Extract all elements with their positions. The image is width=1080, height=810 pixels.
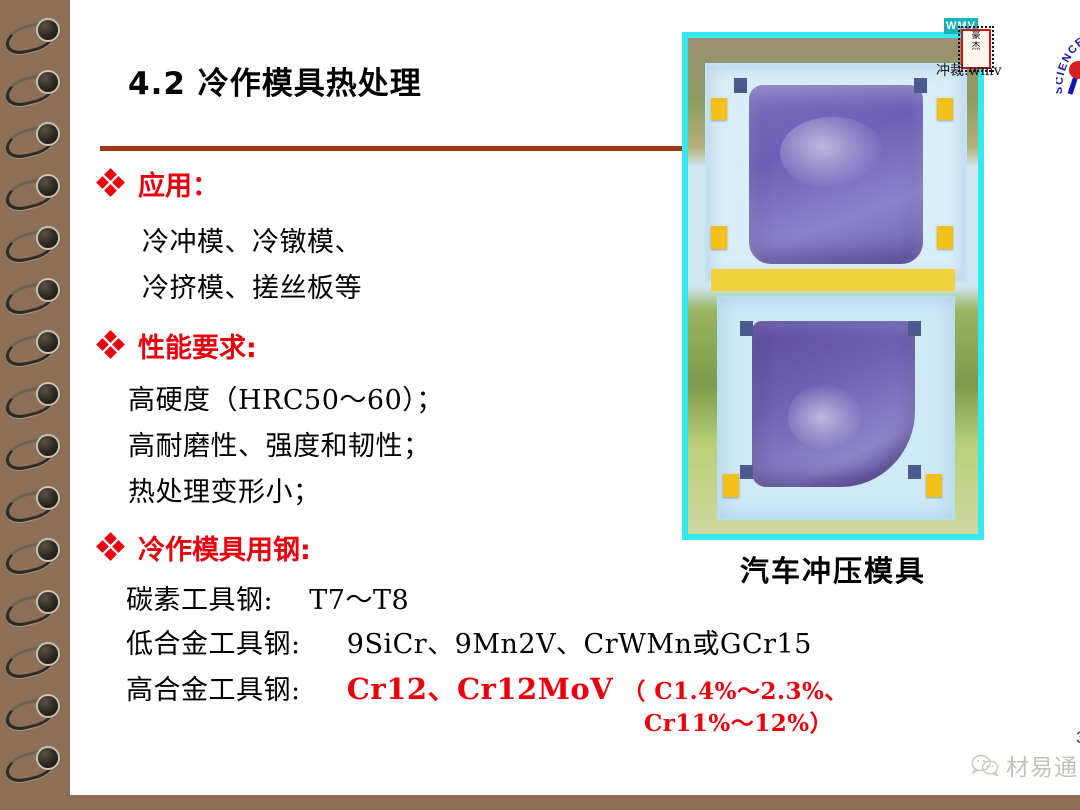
yellow-support-bar: [711, 269, 955, 291]
binding-ring: [4, 70, 60, 104]
video-file-label[interactable]: 冲裁.wmv: [936, 60, 1002, 80]
slide-canvas: 4.2 冷作模具热处理 应用： 冷冲模、冷镦模、 冷挤模、搓丝板等 性能要求: …: [0, 0, 1080, 810]
die-fixture-block: [908, 321, 921, 336]
die-clamp: [926, 474, 942, 496]
diamond-bullet-icon: [98, 534, 124, 560]
section-heading-steels: 冷作模具用钢:: [98, 528, 311, 567]
composition-note-second: Cr11%～12%）: [644, 704, 833, 738]
die-fixture-block: [734, 78, 747, 93]
binding-ring: [4, 590, 60, 624]
steel-label: 低合金工具钢:: [126, 629, 301, 660]
binding-ring: [4, 122, 60, 156]
section-heading-requirements: 性能要求:: [98, 326, 257, 365]
seal-char-bottom: 杰: [963, 42, 989, 53]
die-clamp: [723, 474, 739, 496]
die-clamp: [711, 98, 727, 120]
application-line-1: 冷冲模、冷镦模、: [142, 220, 362, 259]
section-label: 应用：: [138, 164, 219, 203]
section-label: 冷作模具用钢:: [138, 528, 311, 567]
die-fixture-block: [914, 78, 927, 93]
binding-ring: [4, 642, 60, 676]
die-fixture-block: [740, 465, 753, 480]
requirement-line-2: 高耐磨性、强度和韧性；: [128, 424, 431, 463]
photo-caption: 汽车冲压模具: [682, 548, 984, 590]
steel-row-carbon: 碳素工具钢: T7～T8: [126, 578, 409, 617]
binding-ring: [4, 18, 60, 52]
diamond-bullet-icon: [98, 170, 124, 196]
requirement-line-1: 高硬度（HRC50～60）；: [128, 378, 444, 417]
wechat-icon: [970, 754, 1000, 776]
page-number: 38: [1076, 728, 1080, 748]
binding-ring: [4, 330, 60, 364]
steel-label: 高合金工具钢:: [126, 675, 301, 706]
binding-ring: [4, 538, 60, 572]
die-cavity-upper: [749, 85, 923, 264]
steel-grades: T7～T8: [309, 585, 409, 616]
seal-char-top: 豪: [963, 31, 989, 42]
die-clamp: [937, 98, 953, 120]
die-fixture-block: [908, 465, 921, 480]
diamond-bullet-icon: [98, 332, 124, 358]
binding-ring: [4, 746, 60, 780]
steel-label: 碳素工具钢:: [126, 585, 273, 616]
slide-page: 4.2 冷作模具热处理 应用： 冷冲模、冷镦模、 冷挤模、搓丝板等 性能要求: …: [70, 0, 1080, 795]
steel-row-low-alloy: 低合金工具钢: 9SiCr、9Mn2V、CrWMn或GCr15: [126, 622, 812, 661]
spiral-binding: [0, 0, 70, 810]
watermark: 材易通: [970, 748, 1078, 782]
binding-ring: [4, 226, 60, 260]
steel-grades: Cr12、Cr12MoV: [347, 672, 613, 706]
die-clamp: [711, 226, 727, 248]
watermark-text: 材易通: [1006, 748, 1078, 782]
section-label: 性能要求:: [138, 326, 257, 365]
binding-ring: [4, 174, 60, 208]
photo-content: [688, 38, 978, 534]
science-engineering-logo: SCIENCE ENGINEERING &: [1056, 26, 1080, 146]
steel-row-high-alloy: 高合金工具钢: Cr12、Cr12MoV （ C1.4%～2.3%、: [126, 666, 848, 708]
stamping-die-photo: [682, 32, 984, 540]
binding-ring: [4, 434, 60, 468]
binding-ring: [4, 382, 60, 416]
die-clamp: [937, 226, 953, 248]
composition-note-first: （ C1.4%～2.3%、: [622, 678, 848, 705]
binding-ring: [4, 694, 60, 728]
upper-die-half: [705, 63, 966, 282]
title-divider: [100, 146, 682, 151]
binding-ring: [4, 278, 60, 312]
steel-grades: 9SiCr、9Mn2V、CrWMn或GCr15: [347, 629, 812, 660]
page-title: 4.2 冷作模具热处理: [128, 58, 422, 103]
requirement-line-3: 热处理变形小；: [128, 470, 321, 509]
section-heading-application: 应用：: [98, 164, 219, 203]
die-cavity-lower: [752, 321, 914, 487]
application-line-2: 冷挤模、搓丝板等: [142, 266, 362, 305]
die-fixture-block: [740, 321, 753, 336]
binding-ring: [4, 486, 60, 520]
